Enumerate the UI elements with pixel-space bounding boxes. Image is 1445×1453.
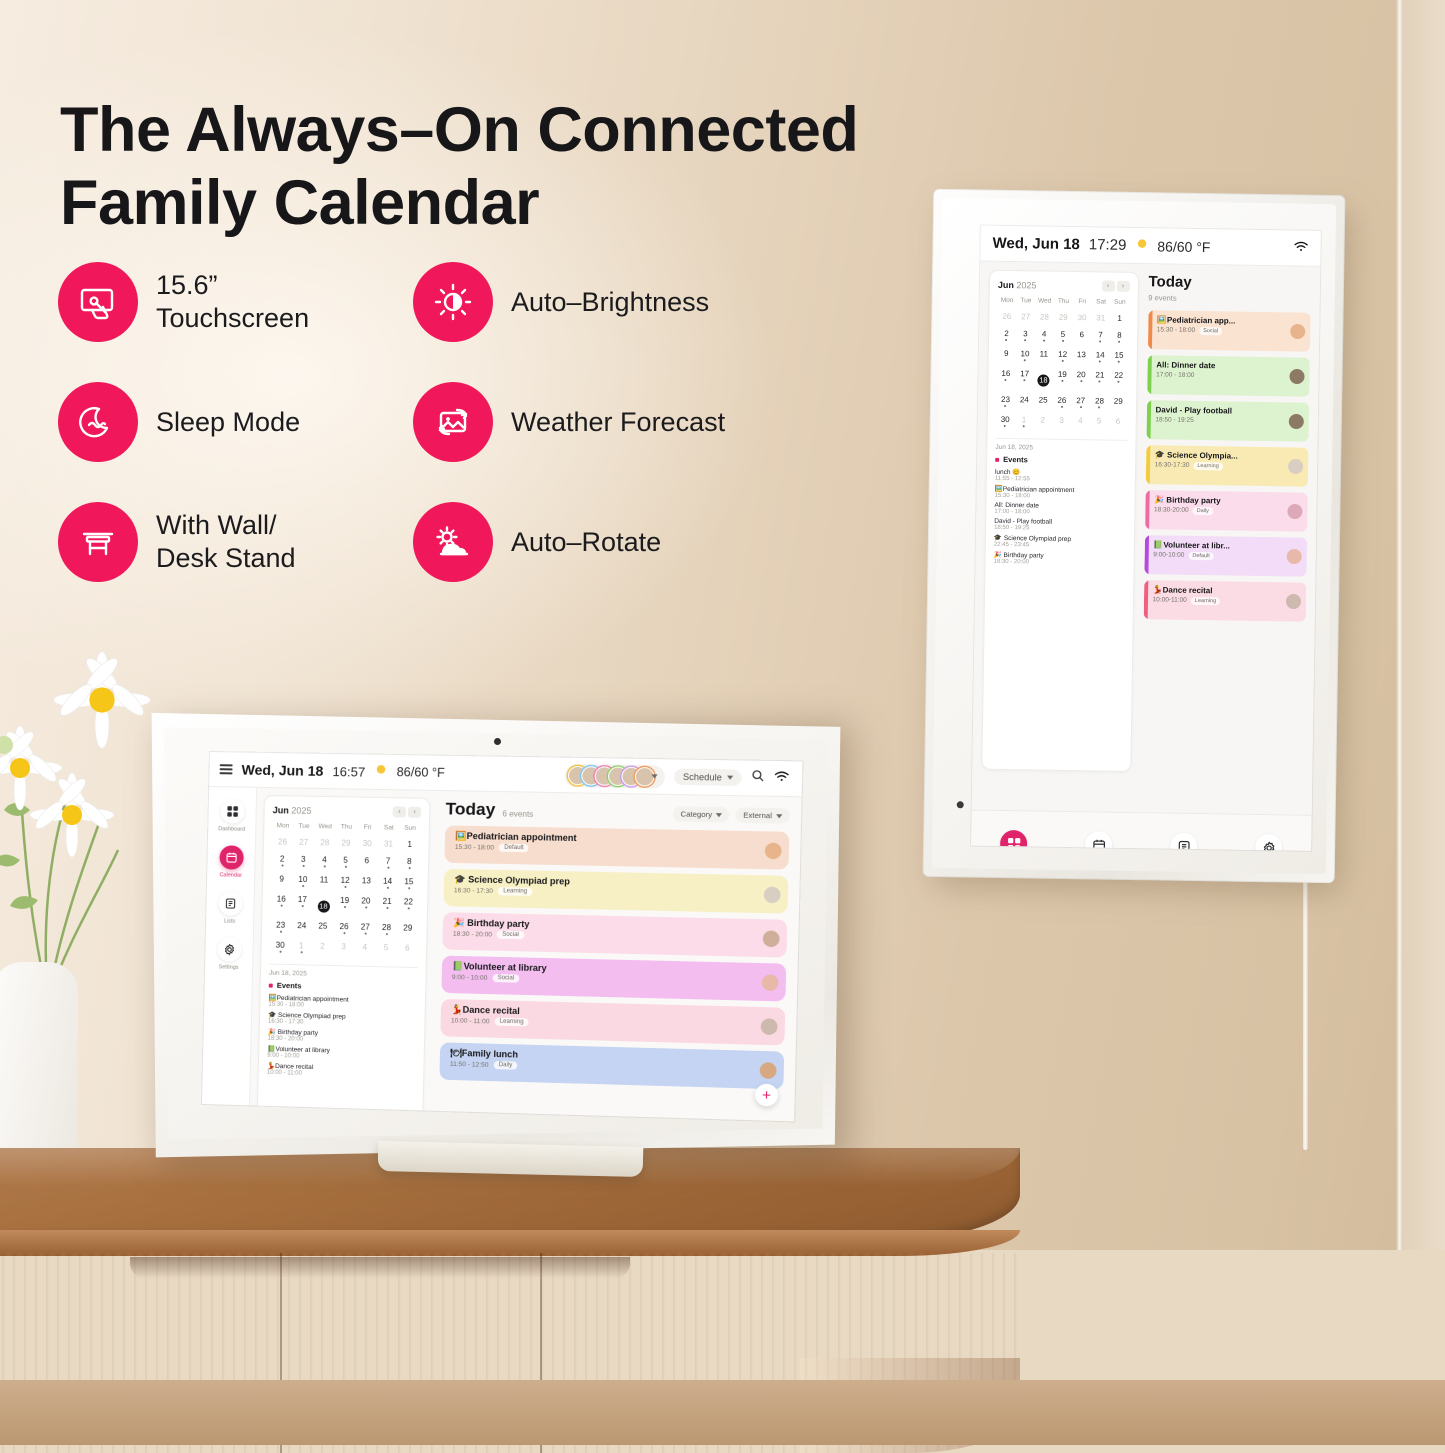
agenda-date: Jun 18, 2025 bbox=[269, 970, 417, 981]
calendar-event-dot bbox=[1062, 340, 1064, 342]
calendar-day-cell[interactable]: 26 bbox=[333, 920, 355, 939]
calendar-day-number: 25 bbox=[312, 921, 333, 931]
portrait-status-bar: Wed, Jun 18 17:29 86/60 °F bbox=[980, 226, 1321, 267]
calendar-day-name: Mon bbox=[998, 297, 1017, 308]
calendar-prev-button[interactable]: ‹ bbox=[1101, 280, 1114, 291]
calendar-day-cell[interactable]: 4 bbox=[1035, 327, 1054, 345]
calendar-day-number: 31 bbox=[378, 839, 399, 848]
landscape-screen: Wed, Jun 18 16:57 86/60 °F Schedule bbox=[202, 752, 802, 1121]
calendar-day-number: 26 bbox=[272, 837, 293, 846]
calendar-event-dot bbox=[1004, 405, 1006, 407]
calendar-event-dot bbox=[407, 907, 409, 909]
avatar bbox=[1287, 504, 1302, 519]
portrait-today-panel: Today 9 events 🖼️Pediatrician app...15:3… bbox=[1136, 264, 1320, 815]
event-time: 16:30-17:30 bbox=[1155, 462, 1190, 470]
agenda-section-label: Events bbox=[277, 981, 302, 991]
feature-label-line2: Desk Stand bbox=[156, 543, 296, 573]
calendar-day-cell[interactable]: 3 bbox=[1016, 327, 1035, 345]
calendar-day-cell[interactable]: 6 bbox=[356, 854, 378, 873]
calendar-day-cell[interactable]: 25 bbox=[312, 919, 334, 938]
calendar-day-cell[interactable]: 2 bbox=[997, 327, 1016, 345]
calendar-day-number: 29 bbox=[1054, 313, 1073, 322]
avatar bbox=[1289, 369, 1304, 384]
page-title: The Always–On Connected Family Calendar bbox=[60, 94, 960, 240]
today-title: Today bbox=[1148, 274, 1311, 293]
calendar-day-number: 2 bbox=[312, 941, 333, 951]
mini-calendar-card[interactable]: Jun 2025 ‹ › MonTueWedThuFriSatSun262728… bbox=[257, 795, 431, 1121]
event-color-bar bbox=[1146, 400, 1151, 439]
event-title: All: Dinner date bbox=[1156, 360, 1288, 371]
avatar bbox=[1289, 414, 1304, 429]
agenda-item[interactable]: All: Dinner date17:00 - 18:00 bbox=[994, 502, 1126, 517]
feature-label-line1: With Wall/ bbox=[156, 510, 277, 540]
calendar-day-number: 7 bbox=[1091, 330, 1110, 339]
calendar-event-dot bbox=[344, 866, 346, 868]
calendar-day-number: 2 bbox=[1033, 415, 1052, 424]
calendar-day-number: 9 bbox=[997, 349, 1016, 358]
calendar-event-dot bbox=[344, 886, 346, 888]
calendar-event-dot bbox=[1004, 425, 1006, 427]
calendar-day-number: 20 bbox=[1072, 370, 1091, 379]
calendar-event-dot bbox=[1024, 359, 1026, 361]
external-filter[interactable]: External bbox=[736, 807, 790, 823]
calendar-day-cell[interactable]: 2 bbox=[271, 852, 292, 870]
agenda-item[interactable]: 🖼️Pediatrician appointment15:30 - 18:00 bbox=[268, 994, 417, 1012]
agenda-item[interactable]: 🎉 Birthday party18:30 - 20:00 bbox=[267, 1028, 416, 1046]
calendar-day-name: Sun bbox=[1110, 299, 1129, 310]
event-time: 15:30 - 18:00 bbox=[1157, 327, 1195, 335]
calendar-day-cell[interactable]: 14 bbox=[1091, 348, 1110, 366]
calendar-day-number: 14 bbox=[377, 877, 398, 887]
calendar-day-cell[interactable]: 29 bbox=[397, 921, 419, 940]
event-time: 10:00 - 11:00 bbox=[451, 1017, 490, 1025]
calendar-event-dot bbox=[387, 867, 389, 869]
calendar-day-cell[interactable]: 5 bbox=[375, 941, 397, 960]
calendar-day-number: 26 bbox=[997, 312, 1016, 321]
event-color-bar bbox=[1147, 355, 1152, 394]
calendar-day-cell[interactable]: 11 bbox=[1034, 347, 1053, 365]
event-category-tag: Default bbox=[1188, 552, 1214, 560]
event-card[interactable]: 📗Volunteer at libr...9:00-10:00Default bbox=[1144, 535, 1307, 577]
calendar-day-cell[interactable]: 18 bbox=[313, 893, 335, 918]
event-title: 📗Volunteer at libr... bbox=[1153, 540, 1285, 551]
calendar-day-cell[interactable]: 9 bbox=[271, 872, 292, 890]
event-card[interactable]: 📗Volunteer at library9:00 - 10:00Social bbox=[441, 956, 786, 1002]
event-color-bar bbox=[1148, 310, 1153, 349]
event-card[interactable]: 🖼️Pediatrician appointment15:30 - 18:00D… bbox=[444, 825, 789, 869]
sidebar-item-calendar[interactable]: Calendar bbox=[209, 845, 254, 879]
calendar-month: Jun bbox=[998, 279, 1014, 289]
event-category-tag: Default bbox=[499, 844, 529, 853]
today-event-count: 9 events bbox=[1148, 293, 1311, 305]
calendar-event-dot bbox=[300, 951, 302, 953]
calendar-day-cell[interactable]: 10 bbox=[292, 873, 314, 892]
calendar-day-cell[interactable]: 21 bbox=[376, 895, 398, 920]
event-card[interactable]: 🎓 Science Olympia...16:30-17:30Learning bbox=[1145, 445, 1308, 487]
calendar-day-number: 22 bbox=[1109, 371, 1128, 380]
event-color-bar bbox=[1145, 490, 1150, 529]
calendar-month-title: Jun 2025 bbox=[998, 279, 1037, 290]
calendar-day-cell[interactable]: 12 bbox=[1053, 348, 1072, 366]
calendar-day-cell[interactable]: 3 bbox=[1052, 414, 1071, 432]
calendar-day-cell[interactable]: 3 bbox=[292, 853, 314, 871]
calendar-day-cell[interactable]: 17 bbox=[291, 893, 313, 918]
calendar-day-name: Sun bbox=[399, 825, 421, 836]
event-title: 🖼️Pediatrician app... bbox=[1157, 315, 1289, 326]
calendar-day-cell[interactable]: 27 bbox=[1016, 310, 1035, 325]
event-title: 🎓 Science Olympia... bbox=[1155, 450, 1287, 461]
event-card[interactable]: 🎉 Birthday party18:30 - 20:00Social bbox=[442, 912, 787, 957]
category-filter-label: Category bbox=[680, 809, 712, 819]
calendar-day-number: 1 bbox=[1110, 314, 1129, 323]
calendar-event-dot bbox=[323, 865, 325, 867]
calendar-day-number: 24 bbox=[1015, 395, 1034, 404]
wifi-icon bbox=[774, 769, 790, 788]
calendar-day-cell[interactable]: 11 bbox=[313, 873, 335, 892]
calendar-day-number: 14 bbox=[1091, 350, 1110, 359]
calendar-event-dot bbox=[302, 865, 304, 867]
calendar-day-cell[interactable]: 20 bbox=[1071, 368, 1090, 392]
calendar-day-number: 5 bbox=[1090, 416, 1109, 425]
calendar-day-cell[interactable]: 29 bbox=[1054, 311, 1073, 326]
calendar-day-number: 28 bbox=[314, 838, 335, 847]
calendar-day-number: 18 bbox=[1037, 374, 1049, 386]
status-time: 16:57 bbox=[332, 764, 365, 780]
calendar-next-button[interactable]: › bbox=[408, 807, 421, 818]
agenda-item-time: 18:30 - 20:00 bbox=[994, 559, 1126, 567]
calendar-prev-button[interactable]: ‹ bbox=[393, 806, 406, 817]
event-card[interactable]: 🍽Family lunch11:50 - 12:50Daily bbox=[439, 1042, 784, 1089]
nav-settings-button[interactable] bbox=[1255, 834, 1282, 851]
calendar-day-number: 6 bbox=[1109, 417, 1128, 426]
flower-vase bbox=[0, 962, 78, 1172]
calendar-day-cell[interactable]: 19 bbox=[1053, 368, 1072, 392]
calendar-day-cell[interactable]: 4 bbox=[314, 853, 336, 872]
camera-dot bbox=[494, 738, 501, 745]
calendar-day-cell[interactable]: 26 bbox=[1052, 394, 1071, 412]
schedule-dropdown[interactable]: Schedule bbox=[674, 769, 741, 786]
event-card[interactable]: All: Dinner date17:00 - 18:00 bbox=[1147, 355, 1310, 397]
sidebar-item-label: Calendar bbox=[219, 872, 241, 879]
feature-touchscreen: 15.6” Touchscreen bbox=[58, 242, 413, 362]
calendar-day-cell[interactable]: 26 bbox=[997, 310, 1016, 325]
calendar-day-cell[interactable]: 5 bbox=[1090, 414, 1109, 432]
calendar-day-cell[interactable]: 16 bbox=[270, 892, 292, 917]
calendar-day-number: 30 bbox=[1073, 313, 1092, 322]
calendar-day-number: 1 bbox=[399, 840, 421, 849]
today-event-count: 6 events bbox=[502, 809, 533, 819]
portrait-agenda: Jun 18, 2025 Events lunch 😊11:55 - 12:55… bbox=[994, 438, 1128, 567]
sidebar-item-dashboard[interactable]: Dashboard bbox=[210, 799, 255, 833]
agenda-item[interactable]: 🎓 Science Olympiad prep16:30 - 17:30 bbox=[268, 1011, 417, 1029]
avatar bbox=[1286, 594, 1301, 609]
agenda-item-time: 11:55 - 12:55 bbox=[995, 476, 1127, 484]
avatar bbox=[760, 1062, 777, 1079]
calendar-event-dot bbox=[408, 887, 410, 889]
event-card[interactable]: 🖼️Pediatrician app...15:30 - 18:00Social bbox=[1148, 310, 1311, 352]
calendar-day-number: 28 bbox=[1035, 312, 1054, 321]
calendar-day-cell[interactable]: 23 bbox=[270, 918, 291, 937]
calendar-day-cell[interactable]: 30 bbox=[356, 837, 378, 853]
calendar-day-cell[interactable]: 28 bbox=[376, 921, 398, 940]
calendar-day-cell[interactable]: 10 bbox=[1015, 347, 1034, 365]
calendar-day-number: 5 bbox=[1053, 330, 1072, 339]
event-category-tag: Learning bbox=[498, 887, 532, 896]
calendar-day-cell[interactable]: 22 bbox=[397, 895, 419, 920]
calendar-event-dot bbox=[1005, 379, 1007, 381]
calendar-event-dot bbox=[1118, 381, 1120, 383]
calendar-day-cell[interactable]: 3 bbox=[333, 940, 355, 959]
calendar-day-cell[interactable]: 19 bbox=[334, 894, 356, 919]
calendar-day-number: 20 bbox=[355, 896, 376, 906]
calendar-day-cell[interactable]: 4 bbox=[1071, 414, 1090, 432]
calendar-day-cell[interactable]: 28 bbox=[1035, 310, 1054, 325]
settings-icon bbox=[217, 937, 242, 962]
calendar-day-name: Fri bbox=[1073, 298, 1092, 309]
calendar-event-dot bbox=[280, 931, 282, 933]
calendar-day-cell[interactable]: 2 bbox=[1033, 413, 1052, 431]
calendar-day-cell[interactable]: 12 bbox=[334, 874, 356, 893]
landscape-sidebar[interactable]: Dashboard Calendar Lists bbox=[202, 787, 257, 1106]
calendar-day-cell[interactable]: 30 bbox=[269, 938, 290, 957]
calendar-day-cell[interactable]: 8 bbox=[1110, 329, 1129, 347]
calendar-day-cell[interactable]: 5 bbox=[335, 854, 357, 873]
calendar-day-cell[interactable]: 1 bbox=[399, 838, 421, 854]
landscape-event-list[interactable]: 🖼️Pediatrician appointment15:30 - 18:00D… bbox=[439, 825, 789, 1089]
agenda-items: lunch 😊11:55 - 12:55🖼️Pediatrician appoi… bbox=[994, 468, 1127, 567]
nav-lists-button[interactable] bbox=[1170, 833, 1197, 851]
calendar-day-cell[interactable]: 7 bbox=[377, 854, 399, 873]
calendar-event-dot bbox=[1118, 341, 1120, 343]
agenda-item-time: 22:45 - 23:45 bbox=[994, 542, 1126, 550]
mini-calendar-card[interactable]: Jun 2025 ‹ › MonTueWedThuFriSatSun262728… bbox=[981, 270, 1138, 772]
avatar bbox=[764, 886, 781, 903]
calendar-day-cell[interactable]: 1 bbox=[1014, 413, 1033, 431]
event-title: 💃Dance recital bbox=[1153, 585, 1285, 596]
calendar-day-cell[interactable]: 13 bbox=[355, 874, 377, 893]
calendar-next-button[interactable]: › bbox=[1116, 281, 1129, 292]
calendar-day-number: 17 bbox=[1015, 369, 1034, 378]
calendar-grid[interactable]: MonTueWedThuFriSatSun2627282930311234567… bbox=[269, 822, 420, 960]
calendar-day-number: 6 bbox=[1072, 330, 1091, 339]
calendar-icon bbox=[219, 845, 244, 869]
calendar-day-cell[interactable]: 6 bbox=[1072, 328, 1091, 346]
calendar-day-cell[interactable]: 30 bbox=[1072, 311, 1091, 326]
calendar-day-cell[interactable]: 26 bbox=[272, 835, 293, 850]
status-temperature: 86/60 °F bbox=[397, 765, 445, 780]
calendar-day-cell[interactable]: 22 bbox=[1109, 369, 1128, 393]
calendar-event-dot bbox=[279, 951, 281, 953]
event-card[interactable]: David - Play football18:50 - 19:25 bbox=[1146, 400, 1309, 442]
calendar-event-dot bbox=[408, 867, 410, 869]
calendar-day-cell[interactable]: 1 bbox=[1110, 312, 1129, 327]
calendar-day-number: 21 bbox=[1090, 370, 1109, 379]
calendar-day-name: Mon bbox=[272, 822, 293, 833]
calendar-event-dot bbox=[386, 887, 388, 889]
agenda-item[interactable]: 🖼️Pediatrician appointment15:30 - 18:00 bbox=[995, 485, 1127, 501]
events-bullet-icon bbox=[269, 983, 273, 987]
calendar-day-number: 27 bbox=[1016, 312, 1035, 321]
calendar-day-number: 10 bbox=[1016, 349, 1035, 358]
event-time: 18:30 - 20:00 bbox=[453, 930, 492, 938]
calendar-day-number: 26 bbox=[1052, 396, 1071, 405]
calendar-day-number: 6 bbox=[356, 856, 377, 865]
agenda-item[interactable]: David - Play football18:50 - 19:25 bbox=[994, 518, 1126, 533]
hamburger-icon[interactable] bbox=[219, 764, 232, 774]
calendar-day-cell[interactable]: 16 bbox=[996, 367, 1015, 391]
portrait-bottom-nav[interactable] bbox=[971, 809, 1312, 850]
agenda-section-label: Events bbox=[1003, 455, 1028, 464]
calendar-year: 2025 bbox=[1016, 280, 1036, 290]
calendar-day-number: 22 bbox=[398, 897, 420, 907]
calendar-day-cell[interactable]: 28 bbox=[1090, 394, 1109, 412]
event-category-tag: Learning bbox=[494, 1018, 528, 1027]
calendar-day-number: 3 bbox=[293, 855, 314, 864]
calendar-day-cell[interactable]: 31 bbox=[378, 837, 400, 853]
agenda-item[interactable]: 🎉 Birthday party18:30 - 20:00 bbox=[994, 551, 1126, 567]
wall-right-panel bbox=[1403, 0, 1445, 1250]
avatar bbox=[1287, 549, 1302, 564]
calendar-day-cell[interactable]: 27 bbox=[293, 836, 314, 851]
calendar-day-cell[interactable]: 30 bbox=[996, 413, 1015, 431]
calendar-day-name: Sat bbox=[1092, 298, 1111, 309]
calendar-day-number: 29 bbox=[1109, 397, 1128, 406]
calendar-event-dot bbox=[1061, 380, 1063, 382]
agenda-item[interactable]: 🎓 Science Olympiad prep22:45 - 23:45 bbox=[994, 534, 1126, 550]
schedule-label: Schedule bbox=[683, 772, 722, 783]
calendar-day-cell[interactable]: 21 bbox=[1090, 368, 1109, 392]
calendar-day-number: 4 bbox=[314, 855, 335, 864]
event-card[interactable]: 🎓 Science Olympiad prep16:30 - 17:30Lear… bbox=[443, 869, 788, 914]
wall-corner-seam bbox=[1396, 0, 1403, 1250]
event-card[interactable]: 🎉 Birthday party18:30-20:00Daily bbox=[1145, 490, 1308, 532]
calendar-day-cell[interactable]: 27 bbox=[1071, 394, 1090, 412]
calendar-day-cell[interactable]: 25 bbox=[1034, 393, 1053, 411]
today-event-list[interactable]: 🖼️Pediatrician app...15:30 - 18:00Social… bbox=[1143, 310, 1310, 622]
calendar-day-cell[interactable]: 1 bbox=[291, 939, 313, 958]
calendar-day-cell[interactable]: 17 bbox=[1015, 367, 1034, 391]
calendar-day-number: 26 bbox=[333, 922, 354, 932]
agenda-item-time: 18:50 - 19:25 bbox=[994, 525, 1126, 533]
calendar-event-dot bbox=[344, 906, 346, 908]
calendar-day-number: 3 bbox=[1016, 329, 1035, 338]
avatar bbox=[762, 974, 779, 991]
calendar-day-cell[interactable]: 14 bbox=[377, 874, 399, 893]
calendar-day-number: 23 bbox=[270, 920, 291, 929]
sidebar-item-lists[interactable]: Lists bbox=[208, 891, 253, 925]
event-time: 15:30 - 18:00 bbox=[455, 844, 494, 852]
calendar-day-number: 17 bbox=[292, 895, 313, 904]
calendar-day-number: 15 bbox=[1110, 351, 1129, 360]
calendar-day-cell[interactable]: 28 bbox=[314, 836, 335, 851]
category-filter[interactable]: Category bbox=[673, 806, 730, 822]
event-time: 9:00-10:00 bbox=[1153, 551, 1184, 558]
calendar-day-number: 5 bbox=[375, 943, 396, 953]
sidebar-item-settings[interactable]: Settings bbox=[207, 937, 252, 971]
calendar-day-cell[interactable]: 29 bbox=[1109, 395, 1128, 413]
chevron-down-icon bbox=[776, 814, 782, 818]
calendar-day-cell[interactable]: 6 bbox=[1108, 415, 1127, 433]
calendar-day-cell[interactable]: 7 bbox=[1091, 328, 1110, 346]
feature-label: 15.6” Touchscreen bbox=[156, 269, 309, 335]
event-title: David - Play football bbox=[1155, 405, 1287, 416]
calendar-day-cell[interactable]: 2 bbox=[312, 939, 334, 958]
sleep-mode-icon bbox=[58, 382, 138, 462]
calendar-day-number: 30 bbox=[996, 415, 1015, 424]
calendar-day-name: Tue bbox=[1016, 297, 1035, 308]
calendar-day-number: 19 bbox=[334, 896, 355, 906]
event-time: 18:50 - 19:25 bbox=[1155, 416, 1193, 424]
agenda-item-time: 15:30 - 18:00 bbox=[995, 493, 1127, 501]
calendar-event-dot bbox=[1099, 360, 1101, 362]
agenda-item[interactable]: 💃Dance recital10:00 - 11:00 bbox=[267, 1062, 416, 1080]
calendar-day-cell[interactable]: 15 bbox=[398, 875, 420, 894]
calendar-day-cell[interactable]: 9 bbox=[997, 347, 1016, 365]
calendar-day-name: Tue bbox=[293, 823, 314, 834]
calendar-day-number: 3 bbox=[333, 942, 354, 952]
status-temperature: 86/60 °F bbox=[1157, 238, 1210, 255]
avatar-group[interactable] bbox=[565, 763, 665, 788]
chevron-down-icon[interactable] bbox=[652, 774, 658, 778]
calendar-event-dot bbox=[1080, 380, 1082, 382]
calendar-day-number: 15 bbox=[398, 877, 420, 887]
calendar-day-number: 21 bbox=[376, 897, 397, 907]
power-indicator bbox=[957, 801, 964, 808]
agenda-item[interactable]: lunch 😊11:55 - 12:55 bbox=[995, 468, 1127, 484]
calendar-day-number: 29 bbox=[335, 838, 356, 847]
calendar-event-dot bbox=[1043, 340, 1045, 342]
calendar-day-cell[interactable]: 23 bbox=[996, 393, 1015, 411]
calendar-day-name: Fri bbox=[357, 824, 378, 835]
feature-weather-forecast: Weather Forecast bbox=[413, 362, 813, 482]
dashboard-icon bbox=[220, 799, 245, 823]
calendar-event-dot bbox=[302, 885, 304, 887]
calendar-day-cell[interactable]: 20 bbox=[355, 894, 377, 919]
calendar-event-dot bbox=[386, 907, 388, 909]
calendar-day-number: 28 bbox=[376, 923, 397, 933]
calendar-day-number: 5 bbox=[335, 856, 356, 865]
calendar-day-cell[interactable]: 18 bbox=[1034, 367, 1053, 391]
calendar-day-cell[interactable]: 24 bbox=[1015, 393, 1034, 411]
event-category-tag: Learning bbox=[1193, 462, 1223, 470]
calendar-day-cell[interactable]: 13 bbox=[1072, 348, 1091, 366]
event-card[interactable]: 💃Dance recital10:00 - 11:00Learning bbox=[440, 999, 785, 1045]
event-time: 16:30 - 17:30 bbox=[454, 887, 493, 895]
calendar-day-number: 7 bbox=[377, 856, 398, 865]
feature-label-line2: Touchscreen bbox=[156, 303, 309, 333]
calendar-event-dot bbox=[1080, 406, 1082, 408]
calendar-day-cell[interactable]: 31 bbox=[1091, 311, 1110, 326]
calendar-day-cell[interactable]: 4 bbox=[354, 940, 376, 959]
calendar-day-cell[interactable]: 27 bbox=[354, 920, 376, 939]
calendar-day-cell[interactable]: 15 bbox=[1109, 349, 1128, 367]
calendar-day-cell[interactable]: 8 bbox=[398, 855, 420, 874]
event-card[interactable]: 💃Dance recital10:00-11:00Learning bbox=[1143, 580, 1306, 622]
event-time: 9:00 - 10:00 bbox=[452, 974, 488, 982]
calendar-day-cell[interactable]: 29 bbox=[335, 836, 357, 851]
calendar-day-number: 11 bbox=[1034, 349, 1053, 358]
feature-label-line1: 15.6” bbox=[156, 270, 218, 300]
calendar-day-cell[interactable]: 24 bbox=[291, 919, 313, 938]
chevron-down-icon bbox=[727, 776, 733, 780]
calendar-day-cell[interactable]: 5 bbox=[1053, 328, 1072, 346]
calendar-day-number: 12 bbox=[334, 876, 355, 885]
calendar-grid[interactable]: MonTueWedThuFriSatSun2627282930311234567… bbox=[996, 297, 1130, 433]
agenda-item[interactable]: 📗Volunteer at library9:00 - 10:00 bbox=[267, 1045, 416, 1063]
search-icon[interactable] bbox=[751, 769, 765, 788]
calendar-day-cell[interactable]: 6 bbox=[396, 941, 418, 960]
feature-list: 15.6” Touchscreen Auto–Brightness bbox=[58, 242, 818, 602]
